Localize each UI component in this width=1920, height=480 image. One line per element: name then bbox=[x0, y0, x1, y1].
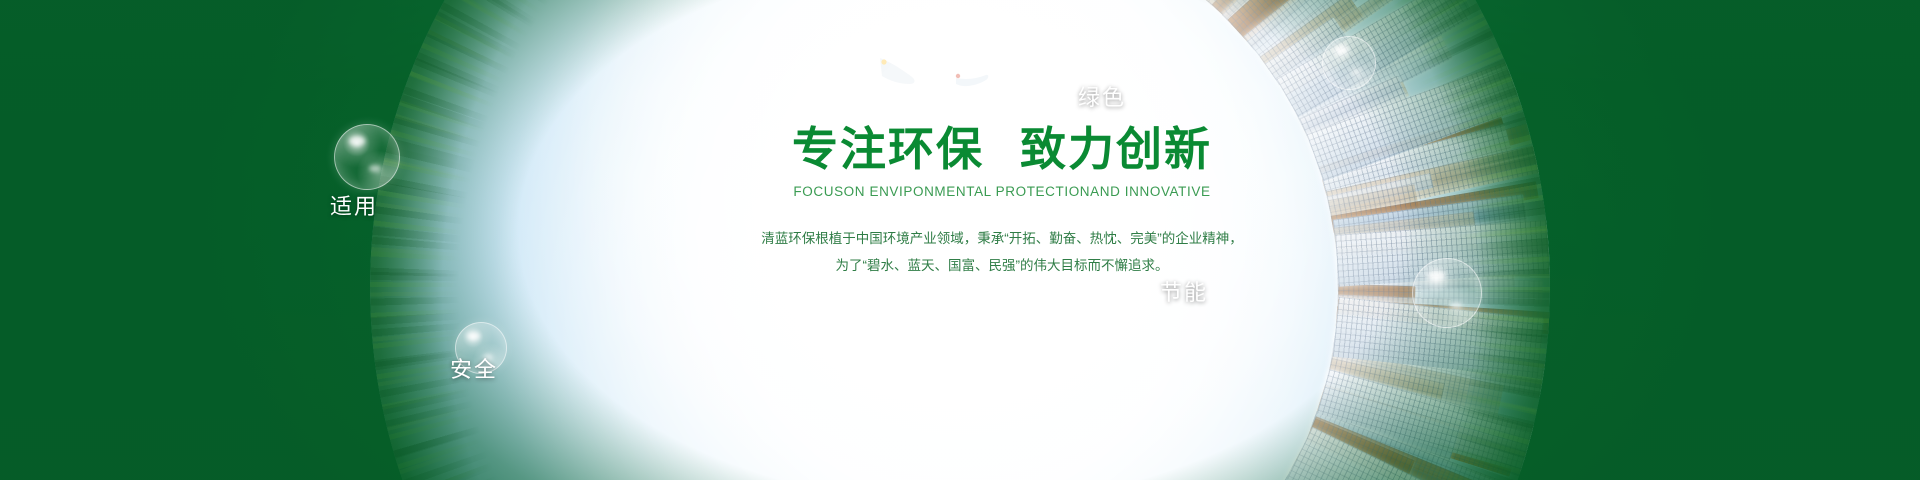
bubble-label-lvse: 绿色 bbox=[1078, 80, 1126, 112]
bubble-icon-jieneng bbox=[1412, 258, 1482, 328]
bubble-label-jieneng: 节能 bbox=[1160, 275, 1208, 307]
bubble-label-shiyong: 适用 bbox=[330, 189, 378, 221]
bubble-icon-shiyong bbox=[334, 124, 400, 190]
page-subtitle: FOCUSON ENVIPONMENTAL PROTECTIONAND INNO… bbox=[622, 184, 1382, 199]
hero-paragraph: 清蓝环保根植于中国环境产业领域，秉承“开拓、勤奋、热忱、完美”的企业精神， 为了… bbox=[622, 225, 1382, 279]
hero-copy: 专注环保 致力创新 FOCUSON ENVIPONMENTAL PROTECTI… bbox=[622, 126, 1382, 279]
bubble-label-anquan: 安全 bbox=[450, 352, 498, 384]
page-title: 专注环保 致力创新 bbox=[622, 126, 1382, 172]
hero-paragraph-line-1: 清蓝环保根植于中国环境产业领域，秉承“开拓、勤奋、热忱、完美”的企业精神， bbox=[622, 225, 1382, 252]
hero-banner: 适用 安全 绿色 节能 专注环保 致力创新 FOCUSON ENVIPONMEN… bbox=[0, 0, 1920, 480]
bubble-icon-lvse bbox=[1322, 36, 1376, 90]
hero-paragraph-line-2: 为了“碧水、蓝天、国富、民强”的伟大目标而不懈追求。 bbox=[622, 252, 1382, 279]
